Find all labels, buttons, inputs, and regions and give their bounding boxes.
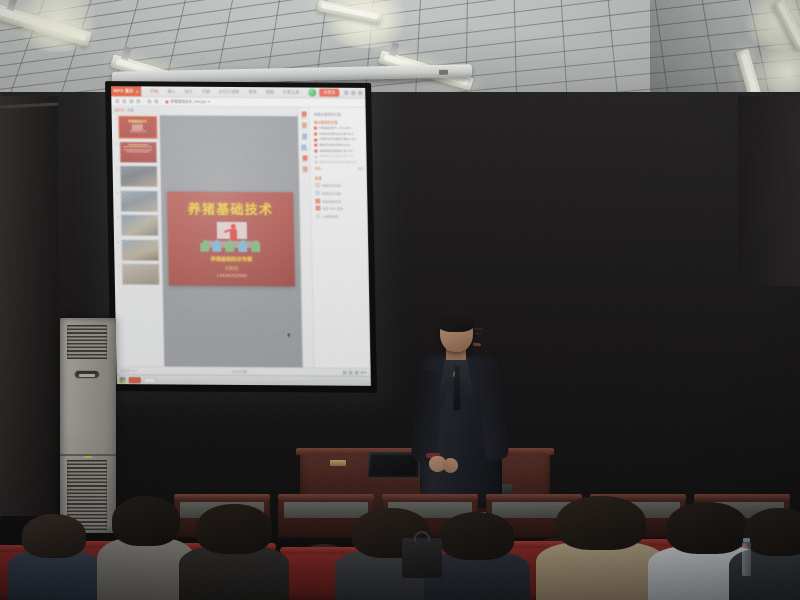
thumbnail-slide-5[interactable]: 5 [116, 214, 159, 236]
thumb-number: 2 [114, 141, 117, 146]
desk-book [330, 460, 346, 466]
layout-icon[interactable] [154, 99, 158, 103]
thumbnail-slide-7[interactable]: 7 [116, 263, 159, 285]
recent-item-label: 养猪场生物安全手册.docx [319, 132, 354, 136]
chevron-down-icon[interactable]: ▾ [208, 100, 210, 104]
right-wall [738, 96, 800, 286]
tab-design[interactable]: 设计 [185, 89, 193, 95]
ac-upper-vent [67, 325, 107, 359]
rail-item-templates[interactable]: 模板 [302, 133, 307, 141]
thumb-sub: 养猪基础知识专题 [129, 132, 146, 134]
tab-review[interactable]: 审阅 [248, 89, 256, 95]
ac-display [79, 374, 95, 377]
tab-slideshow[interactable]: 幻灯片放映 [219, 89, 240, 95]
presenter-mouth [473, 343, 481, 347]
template-icon [316, 213, 321, 218]
toolbar-divider [143, 99, 144, 104]
slide-title: 养猪基础技术 [188, 202, 273, 216]
thumb-text-line [126, 151, 149, 152]
new-item[interactable]: 新建 PDF 文档 [315, 206, 364, 211]
recent-item[interactable]: 养猪场生物安全手册.docx [314, 132, 363, 136]
rail-item-tools[interactable]: 工具 [302, 166, 307, 174]
clipart-audience [199, 238, 263, 251]
rail-item-home[interactable]: 首页 [301, 111, 306, 119]
thumbnail-slide-2[interactable]: 2 [114, 141, 157, 163]
slide-subtitle: 养猪基础知识专题 [211, 257, 253, 265]
zoom-level[interactable]: 68% [360, 370, 366, 374]
close-icon[interactable]: ✕ [135, 89, 139, 94]
rail-label: 云文档 [301, 150, 308, 152]
thumb-text-line [123, 146, 152, 147]
new-slide-icon[interactable] [147, 99, 151, 103]
presenter-right-arm [479, 369, 509, 460]
wps-app-label: WPS 演示 [113, 88, 133, 94]
slide-editing-stage[interactable]: 养猪基础技术 [159, 106, 302, 367]
projection-screen: WPS 演示 ✕ 开始 插入 设计 切换 幻灯片放映 审阅 视图 开发工具 [105, 81, 377, 393]
account-avatar-icon[interactable] [308, 89, 316, 97]
new-item-label: 新建演示文稿 [322, 191, 341, 196]
thumbnail-slide-3[interactable]: 3 [115, 165, 158, 187]
tab-insert[interactable]: 插入 [167, 89, 175, 95]
new-item[interactable]: 从模板新建... [316, 213, 365, 218]
lecture-hall-photo: WPS 演示 ✕ 开始 插入 设计 切换 幻灯片放映 审阅 视图 开发工具 [0, 0, 800, 600]
slide-clipart [199, 221, 264, 251]
window-controls[interactable] [341, 88, 365, 98]
tab-devtools[interactable]: 开发工具 [283, 89, 299, 95]
thumb-canvas [121, 239, 160, 261]
new-section-title: 新建 [315, 176, 364, 181]
login-button[interactable]: 未登录 [319, 89, 339, 97]
sorter-view-icon[interactable] [348, 370, 352, 374]
projected-image: WPS 演示 ✕ 开始 插入 设计 切换 幻灯片放映 审阅 视图 开发工具 [111, 86, 371, 386]
slide-counter: 幻灯片 1 / 7 [120, 368, 137, 373]
sheet-icon [315, 198, 320, 203]
thumb-number: 5 [116, 214, 119, 219]
new-item[interactable]: 新建演示文稿 [315, 191, 364, 196]
thumb-number: 7 [116, 263, 119, 268]
presenter-brow [474, 328, 483, 331]
taskbar-item-explorer[interactable] [144, 377, 156, 383]
attendee-clothing [536, 542, 666, 600]
attendee-head [112, 496, 180, 546]
ac-brand-badge [84, 456, 92, 458]
more-link[interactable]: 更多... [315, 166, 324, 171]
thumb-number: 1 [114, 116, 117, 121]
presenter-hair [437, 310, 475, 332]
task-pane-content: 我最近使用的文档 最近使用的文档 养猪基础技术_new.pptx 养猪场生物安全… [310, 108, 371, 368]
ppt-icon [314, 127, 317, 130]
attendee-2 [112, 496, 180, 600]
thumbnail-slide-4[interactable]: 4 [115, 190, 158, 212]
minimize-icon[interactable] [344, 91, 348, 95]
rail-item-docs[interactable]: 文档 [301, 122, 306, 130]
undo-icon[interactable] [129, 99, 133, 103]
rail-label: 文档 [302, 128, 307, 130]
tab-outline[interactable]: 大纲 [127, 107, 134, 112]
thumb-text-line [123, 149, 152, 150]
rail-label: 首页 [301, 117, 306, 119]
attendee-3 [196, 504, 272, 600]
pin-label[interactable]: 固定 [358, 167, 364, 171]
rail-label: 工具 [302, 171, 307, 173]
recent-item[interactable]: 母猪繁殖性能统计表.xlsx [314, 149, 363, 153]
window-close-icon[interactable] [358, 91, 362, 95]
attendee-head [556, 496, 646, 550]
attendee-head [666, 502, 748, 554]
slide-thumbnail-pane[interactable]: 幻灯片 大纲 1 养猪基础技术 养猪基础知识专题 [111, 106, 164, 366]
roller-knob [439, 70, 448, 75]
stage-top-strip [159, 106, 297, 116]
doc-icon [314, 155, 317, 158]
thumb-title: 养猪基础技术 [128, 121, 147, 124]
file-tab[interactable]: 养猪基础技术_new.ppt ▾ [165, 99, 210, 104]
wps-main-area: 幻灯片 大纲 1 养猪基础技术 养猪基础知识专题 [111, 106, 370, 368]
attendee-8 [556, 496, 646, 600]
attendee-7 [440, 512, 514, 600]
recent-item[interactable]: 饲料配方与营养标准.docx [314, 155, 363, 159]
language-indicator: 中文(中国) [232, 369, 247, 374]
thumb-number: 3 [115, 165, 118, 170]
file-tab-label: 养猪基础技术_new.ppt [170, 99, 206, 104]
recent-item[interactable]: 仔猪饲养管理技术要点.xlsx [314, 138, 363, 142]
wps-app-badge[interactable]: WPS 演示 ✕ [111, 86, 141, 96]
bag-handle [414, 531, 430, 542]
recent-item-label: 规模化养殖场建设方案.pptx [319, 160, 357, 164]
view-controls[interactable]: 68% [342, 370, 366, 374]
thumb-canvas [119, 141, 158, 163]
doc-icon [315, 183, 320, 188]
current-slide[interactable]: 养猪基础技术 [167, 191, 295, 286]
new-item-label: 新建表格文档 [322, 198, 341, 203]
ppt-icon [314, 144, 317, 147]
attendee-head [744, 508, 800, 556]
file-type-icon [165, 100, 168, 103]
new-item-label: 从模板新建... [323, 213, 341, 218]
sheet-icon [314, 149, 317, 152]
wps-presentation-window: WPS 演示 ✕ 开始 插入 设计 切换 幻灯片放映 审阅 视图 开发工具 [111, 86, 371, 386]
pdf-icon [315, 206, 320, 211]
ribbon-tabs[interactable]: 开始 插入 设计 切换 幻灯片放映 审阅 视图 开发工具 [141, 86, 308, 97]
doc-icon [314, 133, 317, 136]
attendee-head [196, 504, 272, 554]
attendee-1 [22, 514, 86, 600]
slide-presenter-name: 刘新柱 [225, 264, 239, 271]
recent-item[interactable]: 猪病防治培训讲稿.pptx [314, 143, 363, 147]
recent-item-label: 母猪繁殖性能统计表.xlsx [319, 149, 353, 153]
recent-item-label: 猪病防治培训讲稿.pptx [319, 143, 351, 147]
maximize-icon[interactable] [351, 91, 355, 95]
rail-item-member[interactable]: 会员 [302, 155, 307, 163]
tab-transition[interactable]: 切换 [202, 89, 210, 95]
save-icon[interactable] [115, 99, 119, 103]
tab-view[interactable]: 视图 [266, 89, 274, 95]
start-button-icon[interactable] [120, 377, 126, 383]
attendee-11 [744, 508, 800, 600]
slideshow-icon[interactable] [354, 370, 358, 374]
left-wall [0, 96, 58, 516]
tab-start[interactable]: 开始 [150, 88, 158, 94]
attendee-head [22, 514, 86, 558]
taskbar-item-wps[interactable] [129, 377, 141, 383]
tab-slides[interactable]: 幻灯片 [114, 107, 124, 112]
audience [0, 470, 800, 600]
new-item-label: 新建 PDF 文档 [322, 206, 342, 211]
thumb-canvas [121, 263, 160, 285]
water-bottle [742, 542, 751, 576]
thumbnail-slide-6[interactable]: 6 [116, 239, 159, 261]
recent-section-title: 最近使用的文档 [314, 120, 363, 125]
new-item-label: 新建文字文档 [322, 183, 341, 188]
new-item[interactable]: 新建文字文档 [315, 183, 364, 188]
handbag [402, 538, 442, 578]
presenter-eye [475, 332, 482, 335]
attendee-head [440, 512, 514, 560]
normal-view-icon[interactable] [342, 370, 346, 374]
slide-phone-number: 13838252589 [217, 272, 247, 280]
thumbnail-slide-1[interactable]: 1 养猪基础技术 养猪基础知识专题 [114, 116, 157, 138]
recent-item[interactable]: 养猪基础技术_new.pptx [314, 127, 363, 131]
ac-control-panel[interactable] [74, 370, 100, 379]
recent-item-label: 饲料配方与营养标准.docx [319, 155, 354, 159]
task-pane-header: 我最近使用的文档 [314, 112, 363, 117]
recent-item[interactable]: 规模化养殖场建设方案.pptx [315, 160, 364, 164]
ppt-icon [315, 191, 320, 196]
sheet-icon [314, 138, 317, 141]
thumb-canvas: 养猪基础技术 养猪基础知识专题 [118, 116, 157, 138]
print-icon[interactable] [122, 99, 126, 103]
recent-more-row[interactable]: 更多... 固定 [315, 166, 364, 171]
recent-item-label: 养猪基础技术_new.pptx [318, 127, 351, 131]
recent-item-label: 仔猪饲养管理技术要点.xlsx [319, 138, 356, 142]
thumb-canvas [120, 214, 159, 236]
thumb-heading-bar [128, 144, 148, 146]
bottle-cap [743, 538, 750, 542]
thumbnail-list[interactable]: 1 养猪基础技术 养猪基础知识专题 2 [112, 114, 164, 366]
redo-icon[interactable] [136, 99, 140, 103]
mouse-cursor-icon [287, 333, 293, 338]
thumb-number: 6 [116, 239, 119, 244]
thumb-clipart [132, 125, 143, 131]
rail-item-cloud[interactable]: 云文档 [301, 144, 308, 152]
ppt-icon [315, 161, 318, 164]
os-taskbar[interactable] [117, 374, 371, 386]
thumb-canvas [120, 190, 159, 212]
task-pane[interactable]: 首页 文档 模板 云文 [298, 107, 371, 367]
thumb-canvas [119, 165, 158, 187]
rail-label: 会员 [302, 161, 307, 163]
attendee-clothing [179, 546, 288, 600]
new-item[interactable]: 新建表格文档 [315, 198, 364, 203]
thumb-number: 4 [115, 190, 118, 195]
rail-label: 模板 [302, 139, 307, 141]
